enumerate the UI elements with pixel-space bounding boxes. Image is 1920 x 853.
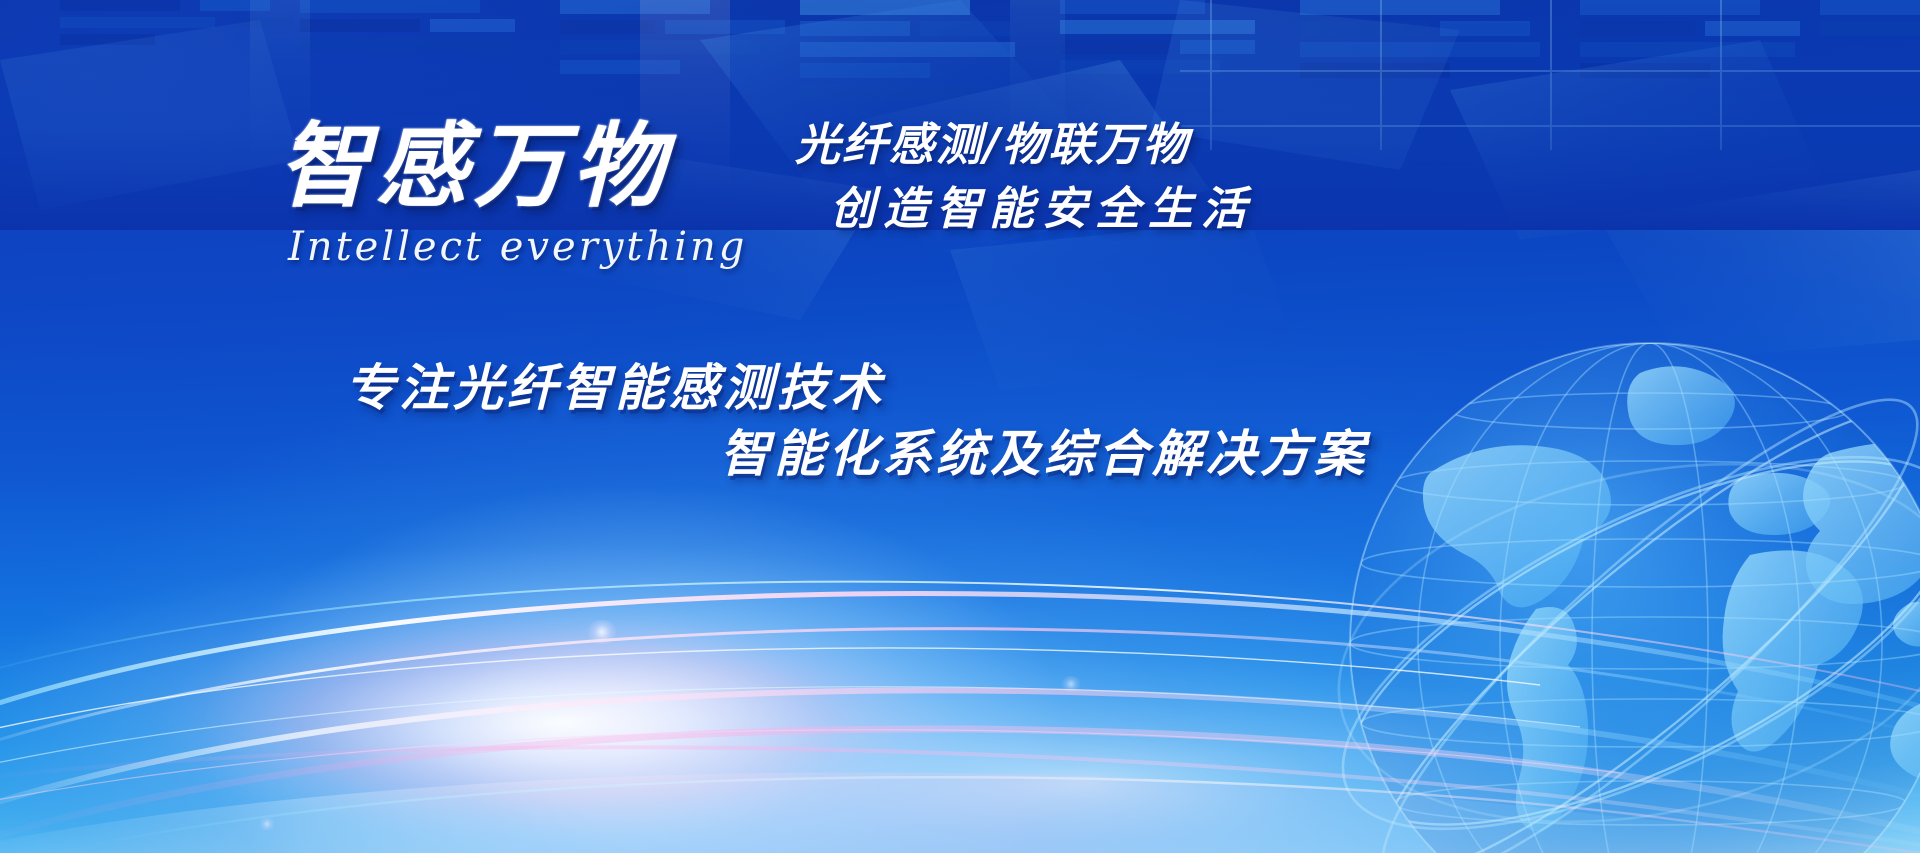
subline-2: 智能化系统及综合解决方案: [720, 414, 1368, 486]
lens-flare-icon: [585, 620, 619, 644]
subline-1: 专注光纤智能感测技术: [345, 348, 885, 420]
light-streak-graphic: [0, 423, 1920, 853]
light-streak-svg: [0, 423, 1920, 853]
headline-english: Intellect everything: [288, 224, 747, 270]
slogan-line-2: 创造智能安全生活: [830, 172, 1254, 237]
lens-flare-icon: [1060, 676, 1082, 692]
lens-flare-icon: [258, 818, 276, 830]
promo-banner: 智感万物 Intellect everything 光纤感测/物联万物 创造智能…: [0, 0, 1920, 853]
slogan-line-1: 光纤感测/物联万物: [795, 108, 1189, 173]
headline-chinese: 智感万物: [278, 92, 670, 225]
